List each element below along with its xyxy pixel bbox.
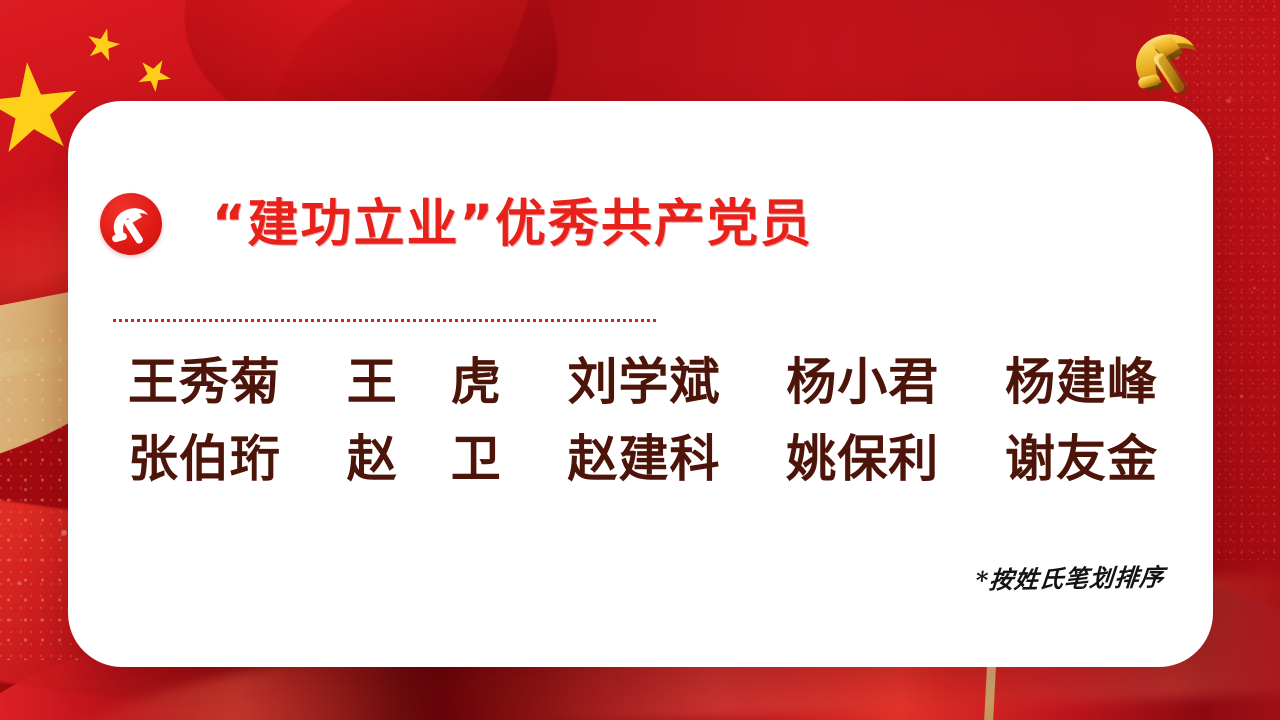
name-row: 王秀菊 王虎 刘学斌 杨小君 杨建峰 [128,353,1158,412]
name-list: 王秀菊 王虎 刘学斌 杨小君 杨建峰 张伯珩 赵卫 赵建科 姚保利 谢友金 [128,353,1158,489]
list-item: 刘学斌 [568,353,721,412]
party-emblem-gold-icon [1116,18,1232,104]
list-item: 赵建科 [568,430,721,489]
list-item: 姚保利 [786,430,939,489]
list-item: 杨小君 [786,353,939,412]
list-item: 王秀菊 [128,353,281,412]
list-item: 赵卫 [347,430,502,489]
page-title: “建功立业”优秀共产党员 [212,199,813,250]
name-row: 张伯珩 赵卫 赵建科 姚保利 谢友金 [128,430,1158,489]
footnote: *按姓氏笔划排序 [975,557,1167,595]
content-card: “建功立业”优秀共产党员 王秀菊 王虎 刘学斌 杨小君 杨建峰 张伯珩 赵卫 赵… [68,101,1213,667]
slide-root: “建功立业”优秀共产党员 王秀菊 王虎 刘学斌 杨小君 杨建峰 张伯珩 赵卫 赵… [0,0,1280,720]
list-item: 张伯珩 [128,430,281,489]
divider [113,319,658,322]
list-item: 王虎 [347,353,502,412]
list-item: 杨建峰 [1005,353,1158,412]
title-row: “建功立业”优秀共产党员 [100,193,813,255]
hammer-sickle-badge-icon [100,193,162,255]
list-item: 谢友金 [1005,430,1158,489]
